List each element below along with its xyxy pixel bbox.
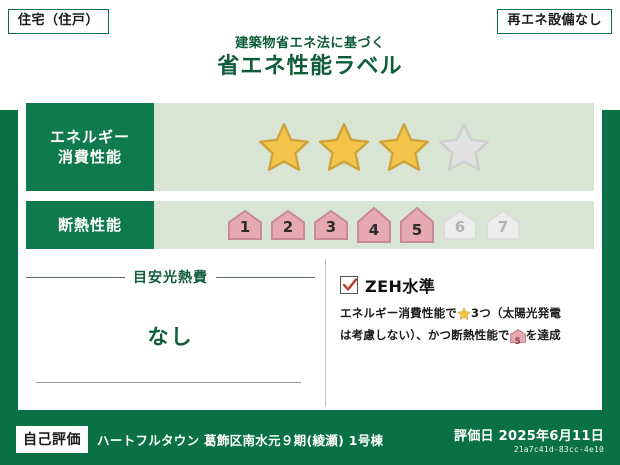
insulation-grade-3: 3 xyxy=(311,209,351,241)
zeh-panel: ZEH水準 エネルギー消費性能で3つ（太陽光発電は考慮しない）、かつ断熱性能で5… xyxy=(326,259,594,407)
insulation-grade-6: 6 xyxy=(440,209,480,241)
insulation-grade-4: 4 xyxy=(354,206,394,244)
grade-number: 7 xyxy=(483,218,523,236)
energy-label-line1: エネルギー xyxy=(50,127,130,147)
insulation-performance-row: 断熱性能 1234567 xyxy=(26,201,594,249)
evaluation-info: 評価日 2025年6月11日 21a7c41d-83cc-4e10 xyxy=(454,425,604,454)
energy-label-line2: 消費性能 xyxy=(58,147,122,167)
zeh-desc-part1: エネルギー消費性能で xyxy=(340,306,457,320)
evaluation-date-label: 評価日 xyxy=(454,429,494,444)
cost-underline xyxy=(36,382,301,383)
renewable-equipment-tag: 再エネ設備なし xyxy=(497,9,612,34)
grade-number: 3 xyxy=(311,218,351,236)
utility-cost-header: 目安光熱費 xyxy=(26,267,315,287)
heading-title: 省エネ性能ラベル xyxy=(0,54,620,80)
grade-number: 1 xyxy=(225,218,265,236)
zeh-checkbox[interactable] xyxy=(340,276,358,294)
grade-number: 6 xyxy=(440,218,480,236)
label-footer: 自己評価 ハートフルタウン 葛飾区南水元９期(綾瀬) 1号棟 評価日 2025年… xyxy=(0,413,620,465)
utility-cost-panel: 目安光熱費 なし xyxy=(26,259,326,407)
zeh-header: ZEH水準 xyxy=(340,273,590,297)
inline-house-icon: 5 xyxy=(510,329,526,349)
inline-star-icon xyxy=(457,307,471,326)
cost-rule-left xyxy=(26,277,125,278)
building-name: ハートフルタウン 葛飾区南水元９期(綾瀬) 1号棟 xyxy=(97,430,383,449)
star-empty-icon xyxy=(438,122,490,172)
insulation-grade-5: 5 xyxy=(397,206,437,244)
utility-cost-value: なし xyxy=(26,321,315,351)
zeh-desc-part2: は考慮しない）、かつ断熱性能で xyxy=(340,328,510,342)
lower-section: 目安光熱費 なし ZEH水準 エネルギー消費性能で3つ（太陽光発電は考慮しな xyxy=(26,259,594,407)
zeh-description: エネルギー消費性能で3つ（太陽光発電は考慮しない）、かつ断熱性能で5を達成 xyxy=(340,304,590,349)
insulation-grade-1: 1 xyxy=(225,209,265,241)
insulation-label-text: 断熱性能 xyxy=(58,215,122,235)
star-filled-icon xyxy=(258,122,310,172)
energy-performance-label: 住宅（住戸） 再エネ設備なし 建築物省エネ法に基づく 省エネ性能ラベル エネルギ… xyxy=(0,0,620,465)
star-filled-icon xyxy=(318,122,370,172)
insulation-performance-label: 断熱性能 xyxy=(26,201,154,249)
star-rating xyxy=(154,103,594,191)
evaluation-date-value: 2025年6月11日 xyxy=(499,429,604,444)
evaluation-id: 21a7c41d-83cc-4e10 xyxy=(454,445,604,454)
insulation-grade-7: 7 xyxy=(483,209,523,241)
housing-type-tag: 住宅（住戸） xyxy=(8,9,109,34)
heading-subtitle: 建築物省エネ法に基づく xyxy=(0,36,620,52)
zeh-title: ZEH水準 xyxy=(365,273,435,297)
zeh-desc-part3: を達成 xyxy=(526,328,561,342)
energy-performance-row: エネルギー 消費性能 xyxy=(26,103,594,191)
grade-number: 2 xyxy=(268,218,308,236)
inline-house-number: 5 xyxy=(510,335,526,349)
label-heading: 建築物省エネ法に基づく 省エネ性能ラベル xyxy=(0,36,620,80)
energy-performance-label: エネルギー 消費性能 xyxy=(26,103,154,191)
insulation-grade-2: 2 xyxy=(268,209,308,241)
self-evaluation-badge: 自己評価 xyxy=(16,426,88,453)
utility-cost-title: 目安光熱費 xyxy=(133,267,208,287)
evaluation-date: 評価日 2025年6月11日 xyxy=(454,429,604,444)
grade-number: 4 xyxy=(354,221,394,239)
check-icon xyxy=(342,277,358,293)
cost-rule-right xyxy=(216,277,315,278)
insulation-grade-scale: 1234567 xyxy=(154,201,594,249)
label-body-card: エネルギー 消費性能 断熱性能 1234567 目安光熱費 なし xyxy=(18,96,602,410)
zeh-desc-stars: 3つ（太陽光発電 xyxy=(471,306,561,320)
star-filled-icon xyxy=(378,122,430,172)
grade-number: 5 xyxy=(397,221,437,239)
